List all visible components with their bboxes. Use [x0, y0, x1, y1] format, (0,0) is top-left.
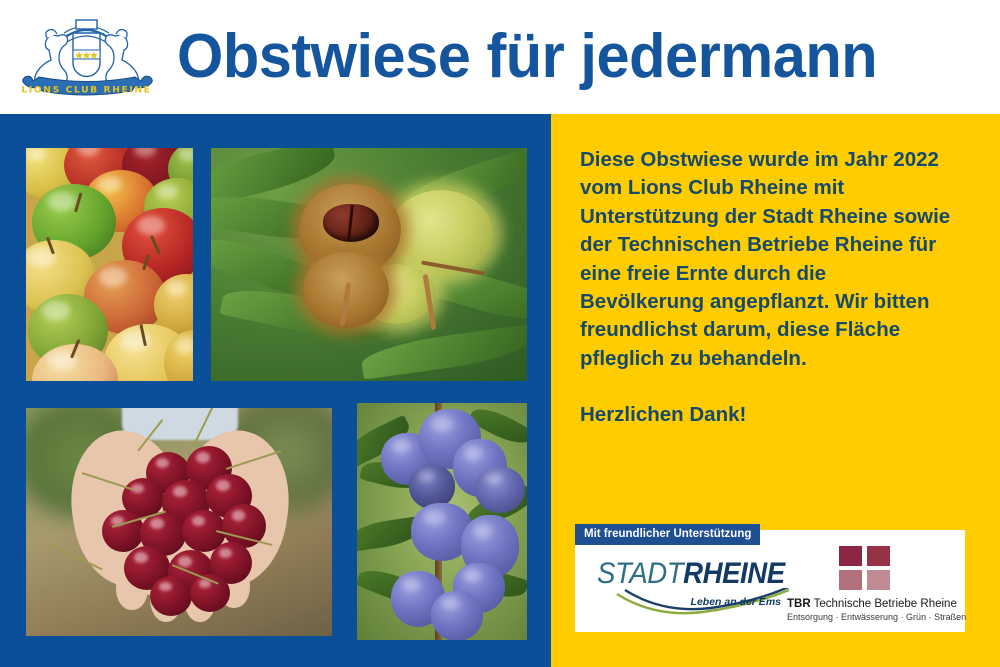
- tbr-logo: TBR Technische Betriebe Rheine Entsorgun…: [787, 546, 955, 624]
- tbr-services: Entsorgung · Entwässerung · Grün · Straß…: [787, 612, 955, 623]
- info-paragraph: Diese Obstwiese wurde im Jahr 2022 vom L…: [580, 146, 952, 373]
- stadt-rheine-wordmark: STADTRHEINE: [597, 558, 785, 590]
- rheine-word: RHEINE: [683, 557, 785, 590]
- photo-plums: [357, 403, 527, 640]
- tbr-abbr: TBR: [787, 598, 811, 610]
- sponsor-box: Mit freundlicher Unterstützung STADTRHEI…: [575, 530, 965, 632]
- page-title: Obstwiese für jedermann: [177, 26, 877, 88]
- crest-banner-text: LIONS CLUB RHEINE: [21, 85, 151, 96]
- photo-apples: [26, 148, 193, 381]
- info-text-block: Diese Obstwiese wurde im Jahr 2022 vom L…: [580, 146, 952, 430]
- thanks-line: Herzlichen Dank!: [580, 401, 952, 429]
- tbr-squares-icon: [839, 546, 893, 592]
- stadt-rheine-logo: STADTRHEINE Leben an der Ems: [597, 558, 787, 620]
- photo-chestnut: [211, 148, 527, 381]
- tbr-fullname: Technische Betriebe Rheine: [814, 598, 957, 610]
- stadt-rheine-tagline: Leben an der Ems: [691, 596, 781, 608]
- poster: LIONS CLUB RHEINE Obstwiese für jederman…: [0, 0, 1000, 667]
- photo-cherries: [26, 408, 332, 636]
- lions-club-rheine-crest-icon: LIONS CLUB RHEINE: [14, 9, 159, 105]
- header: LIONS CLUB RHEINE Obstwiese für jederman…: [0, 0, 1000, 114]
- sponsor-tag-label: Mit freundlicher Unterstützung: [575, 524, 760, 545]
- tbr-name: TBR Technische Betriebe Rheine: [787, 598, 955, 611]
- stadt-word: STADT: [597, 557, 683, 590]
